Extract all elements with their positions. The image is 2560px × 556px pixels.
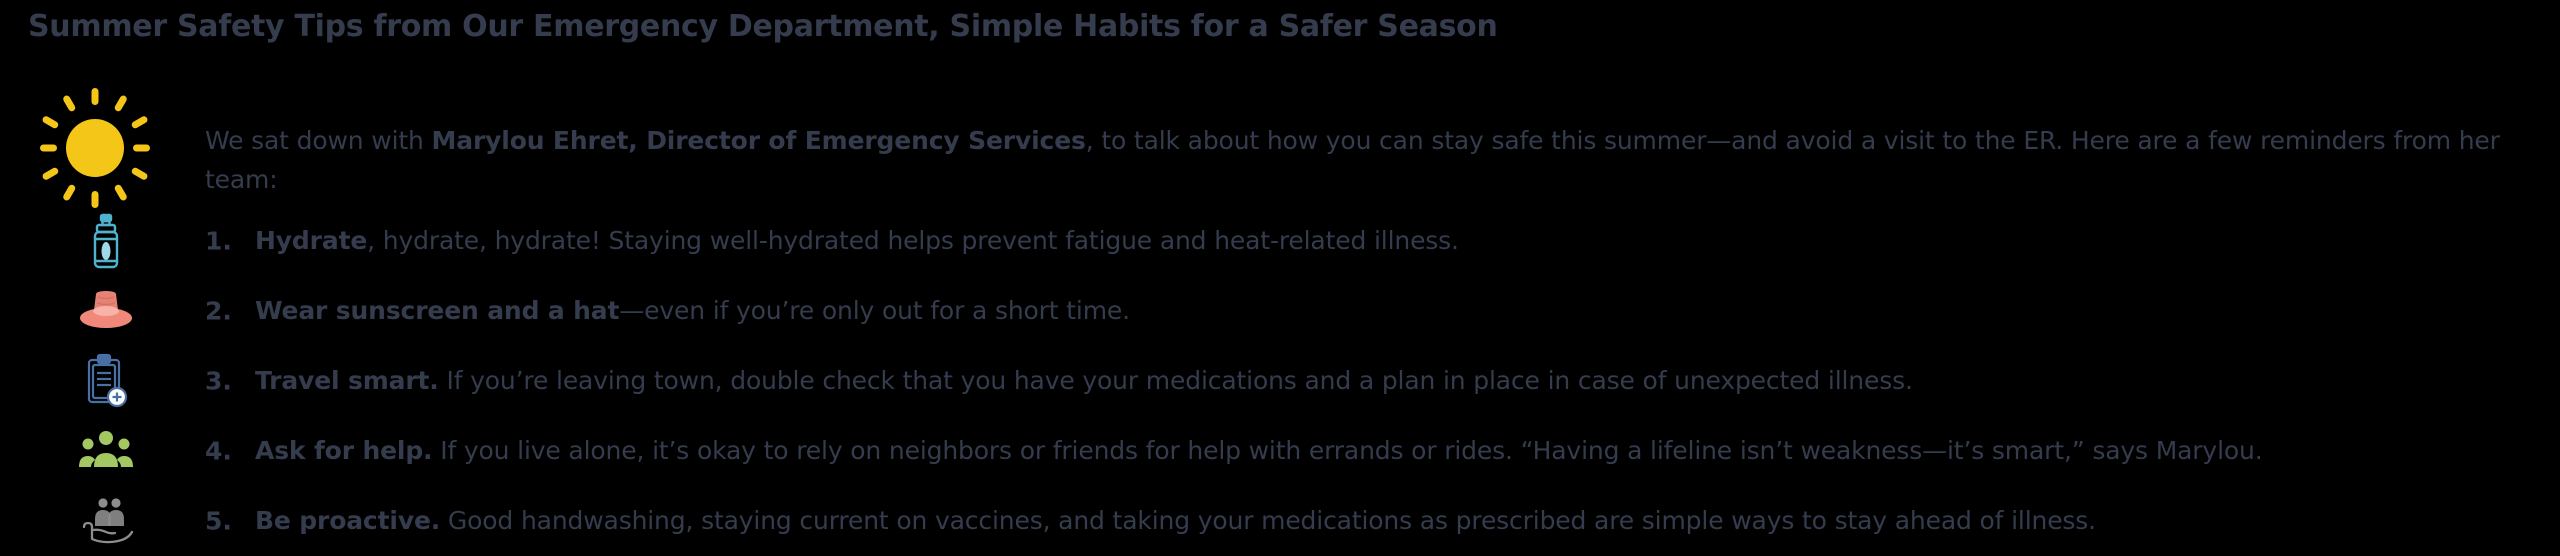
list-item-lead: Hydrate <box>255 226 367 255</box>
list-item: 1. Hydrate, hydrate, hydrate! Staying we… <box>0 206 2560 276</box>
sun-hat-icon <box>78 283 134 339</box>
intro-prefix: We sat down with <box>205 126 432 155</box>
safety-tips-list: 1. Hydrate, hydrate, hydrate! Staying we… <box>0 206 2560 556</box>
list-item: 4. Ask for help. If you live alone, it’s… <box>0 416 2560 486</box>
list-item-rest: , hydrate, hydrate! Staying well-hydrate… <box>367 226 1459 255</box>
list-item-number: 1. <box>205 227 251 256</box>
list-item: 2. Wear sunscreen and a hat—even if you’… <box>0 276 2560 346</box>
list-item-lead: Be proactive. <box>255 506 440 535</box>
list-item-text: Wear sunscreen and a hat—even if you’re … <box>255 294 2545 328</box>
list-item-text: Ask for help. If you live alone, it’s ok… <box>255 434 2545 468</box>
intro-person-name: Marylou Ehret, Director of Emergency Ser… <box>432 126 1086 155</box>
list-item-number: 3. <box>205 367 251 396</box>
page-title: Summer Safety Tips from Our Emergency De… <box>28 8 2528 46</box>
group-of-people-icon <box>78 423 134 479</box>
list-item-lead: Travel smart. <box>255 366 439 395</box>
list-item-lead: Ask for help. <box>255 436 432 465</box>
list-item-number: 4. <box>205 437 251 466</box>
list-item: 3. Travel smart. If you’re leaving town,… <box>0 346 2560 416</box>
list-item-text: Hydrate, hydrate, hydrate! Staying well-… <box>255 224 2545 258</box>
list-item-rest: —even if you’re only out for a short tim… <box>619 296 1130 325</box>
sun-icon <box>30 88 160 208</box>
list-item-text: Travel smart. If you’re leaving town, do… <box>255 364 2545 398</box>
list-item: 5. Be proactive. Good handwashing, stayi… <box>0 486 2560 556</box>
clipboard-checklist-icon <box>78 353 134 409</box>
list-item-rest: Good handwashing, staying current on vac… <box>440 506 2096 535</box>
hand-holding-people-icon <box>78 493 134 549</box>
list-item-lead: Wear sunscreen and a hat <box>255 296 619 325</box>
intro-paragraph: We sat down with Marylou Ehret, Director… <box>205 121 2557 199</box>
list-item-text: Be proactive. Good handwashing, staying … <box>255 504 2545 538</box>
list-item-number: 2. <box>205 297 251 326</box>
list-item-number: 5. <box>205 507 251 536</box>
list-item-rest: If you’re leaving town, double check tha… <box>439 366 1913 395</box>
list-item-rest: If you live alone, it’s okay to rely on … <box>432 436 2262 465</box>
article-page: Summer Safety Tips from Our Emergency De… <box>0 0 2560 554</box>
water-bottle-icon <box>78 213 134 269</box>
